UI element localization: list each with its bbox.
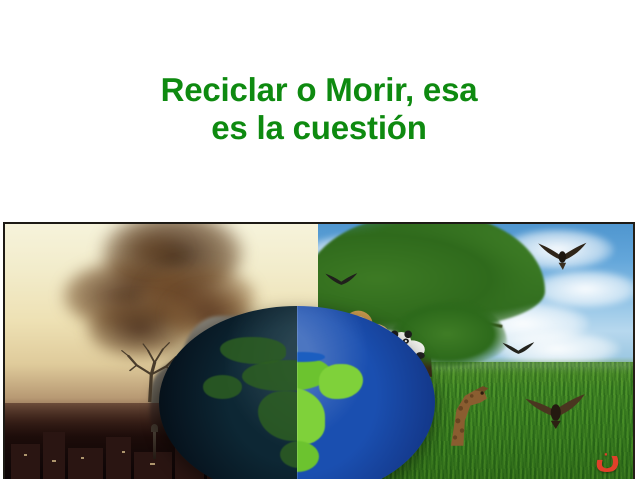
minaret-icon (153, 430, 156, 459)
split-globe (159, 306, 435, 479)
slide-canvas: Reciclar o Morir, esa es la cuestión (0, 0, 638, 479)
page-title: Reciclar o Morir, esa es la cuestión (0, 0, 638, 218)
title-line-1: Reciclar o Morir, esa (161, 71, 478, 109)
eagle-icon (535, 237, 589, 273)
cloud-icon (532, 270, 633, 308)
eagle-icon (523, 385, 586, 431)
bird-icon (501, 336, 536, 362)
giraffe-icon (444, 382, 513, 438)
globe-green-side (297, 306, 435, 479)
bird-icon (324, 267, 359, 293)
globe-divider (297, 306, 298, 479)
title-line-2: es la cuestión (211, 109, 426, 147)
globe-polluted-side (159, 306, 297, 479)
globe-bright-ocean (297, 306, 435, 479)
arabic-noon-logo-icon: ن (595, 443, 621, 473)
smoke-plume-icon (118, 229, 187, 270)
globe-dark-ocean (159, 306, 297, 479)
composite-photo: ن (3, 222, 635, 479)
photo-inner: ن (5, 224, 633, 479)
